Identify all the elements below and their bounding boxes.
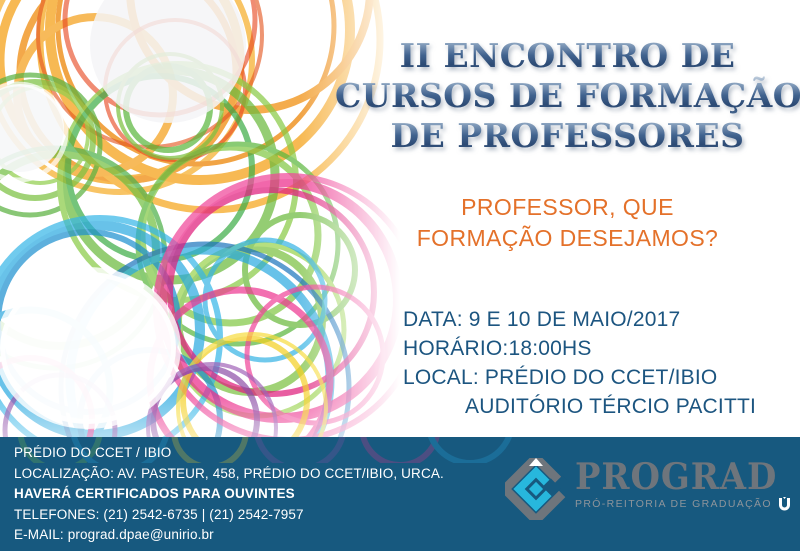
detail-time: HORÁRIO:18:00HS (403, 334, 756, 363)
footer-line-email: E-MAIL: prograd.dpae@unirio.br (14, 525, 444, 546)
title-line-1: II ENCONTRO DE (335, 36, 800, 76)
event-details: DATA: 9 E 10 DE MAIO/2017 HORÁRIO:18:00H… (403, 305, 756, 421)
footer-line-building: PRÉDIO DO CCET / IBIO (14, 443, 444, 464)
prograd-wordmark-group: PROGRAD PRÓ-REITORIA DE GRADUAÇÃO (575, 458, 790, 511)
detail-date: DATA: 9 E 10 DE MAIO/2017 (403, 305, 756, 334)
subtitle-line-2: FORMAÇÃO DESEJAMOS? (335, 223, 800, 254)
poster-subtitle: PROFESSOR, QUE FORMAÇÃO DESEJAMOS? (335, 192, 800, 254)
prograd-logo: PROGRAD PRÓ-REITORIA DE GRADUAÇÃO (505, 458, 790, 524)
title-line-3: DE PROFESSORES (335, 116, 800, 156)
footer-line-address: LOCALIZAÇÃO: AV. PASTEUR, 458, PRÉDIO DO… (14, 464, 444, 485)
detail-auditorium: AUDITÓRIO TÉRCIO PACITTI (403, 392, 756, 421)
footer-bar: PRÉDIO DO CCET / IBIO LOCALIZAÇÃO: AV. P… (0, 437, 800, 551)
prograd-tagline: PRÓ-REITORIA DE GRADUAÇÃO (575, 498, 772, 510)
unirio-u-icon (777, 497, 792, 511)
footer-line-phones: TELEFONES: (21) 2542-6735 | (21) 2542-79… (14, 505, 444, 526)
title-line-2: CURSOS DE FORMAÇÃO (335, 76, 800, 116)
footer-line-certificates: HAVERÁ CERTIFICADOS PARA OUVINTES (14, 484, 444, 505)
footer-contact-info: PRÉDIO DO CCET / IBIO LOCALIZAÇÃO: AV. P… (14, 443, 444, 546)
prograd-wordmark: PROGRAD (575, 458, 777, 496)
poster-title: II ENCONTRO DE CURSOS DE FORMAÇÃO DE PRO… (335, 36, 800, 156)
event-poster: II ENCONTRO DE CURSOS DE FORMAÇÃO DE PRO… (0, 0, 800, 551)
poster-content: II ENCONTRO DE CURSOS DE FORMAÇÃO DE PRO… (335, 0, 800, 437)
detail-location: LOCAL: PRÉDIO DO CCET/IBIO (403, 363, 756, 392)
subtitle-line-1: PROFESSOR, QUE (335, 192, 800, 223)
prograd-diamond-spiral-icon (505, 458, 567, 520)
